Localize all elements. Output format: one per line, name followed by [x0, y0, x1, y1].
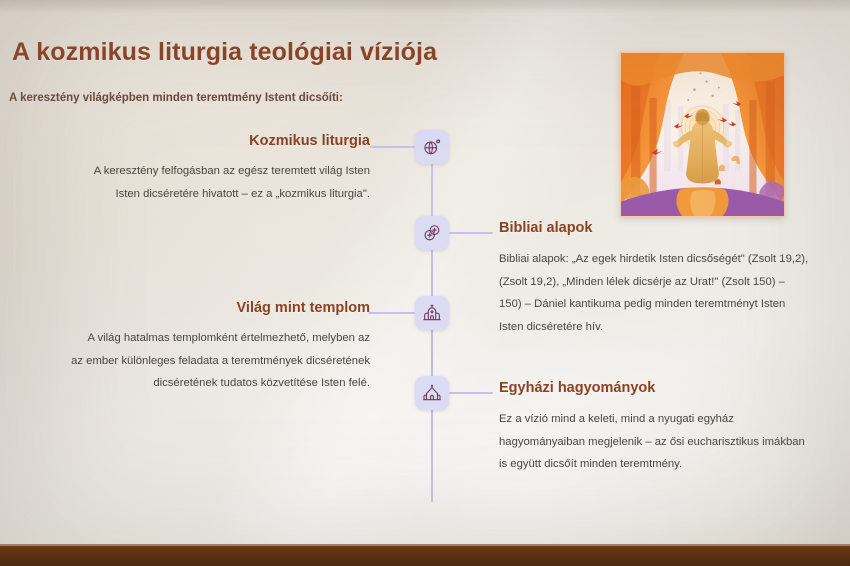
connector-line-2: [449, 232, 493, 234]
content-block-egyhazi-hagyomanyok: Egyházi hagyományok Ez a vízió mind a ke…: [499, 380, 850, 476]
chapel-icon: [422, 383, 442, 403]
body-line: Ez a vízió mind a keleti, mind a nyugati…: [499, 408, 850, 431]
body-line: (Zsolt 19,2), „Minden lélek dicsérje az …: [499, 271, 850, 294]
body-line: 150) – Dániel kantikuma pedig minden ter…: [499, 293, 850, 316]
content-block-bibliai-alapok: Bibliai alapok Bibliai alapok: „Az egek …: [499, 220, 850, 338]
body-line: Isten dicséretére hív.: [499, 316, 850, 339]
overlapping-circles-icon: [422, 223, 442, 243]
connector-line-3: [368, 312, 415, 314]
block-body: Ez a vízió mind a keleti, mind a nyugati…: [499, 408, 850, 476]
block-body: Bibliai alapok: „Az egek hirdetik Isten …: [499, 248, 850, 338]
saint-francis-forest-illustration: [620, 52, 785, 217]
block-heading: Egyházi hagyományok: [499, 380, 850, 396]
body-line: hagyományaiban megjelenik – az ősi eucha…: [499, 431, 850, 454]
body-line: Isten dicséretére hivatott – ez a „kozmi…: [20, 183, 370, 206]
content-block-kozmikus-liturgia: Kozmikus liturgia A keresztény felfogásb…: [20, 133, 370, 205]
connector-line-1: [370, 146, 415, 148]
body-line: Bibliai alapok: „Az egek hirdetik Isten …: [499, 248, 850, 271]
content-block-vilag-mint-templom: Világ mint templom A világ hatalmas temp…: [16, 300, 370, 395]
band-edge-highlight: [0, 544, 850, 546]
block-heading: Világ mint templom: [16, 300, 370, 316]
block-body: A világ hatalmas templomként értelmezhet…: [16, 327, 370, 395]
bottom-dark-band: [0, 544, 850, 566]
slide-subtitle: A keresztény világképben minden teremtmé…: [9, 92, 343, 104]
page-title: A kozmikus liturgia teológiai víziója: [12, 38, 437, 67]
globe-icon: [422, 137, 442, 157]
block-body: A keresztény felfogásban az egész teremt…: [20, 160, 370, 205]
block-heading: Bibliai alapok: [499, 220, 850, 236]
church-building-icon: [422, 303, 442, 323]
timeline-node-3[interactable]: [415, 296, 449, 330]
connector-line-4: [449, 392, 493, 394]
body-line: is együtt dicsőít minden teremtmény.: [499, 453, 850, 476]
block-heading: Kozmikus liturgia: [20, 133, 370, 149]
body-line: A világ hatalmas templomként értelmezhet…: [16, 327, 370, 350]
presentation-slide: A kozmikus liturgia teológiai víziója A …: [0, 0, 850, 566]
timeline-node-2[interactable]: [415, 216, 449, 250]
body-line: A keresztény felfogásban az egész teremt…: [20, 160, 370, 183]
body-line: az ember különleges feladata a teremtmén…: [16, 350, 370, 373]
timeline-node-4[interactable]: [415, 376, 449, 410]
body-line: dicséretének tudatos közvetítése Isten f…: [16, 372, 370, 395]
timeline-node-1[interactable]: [415, 130, 449, 164]
